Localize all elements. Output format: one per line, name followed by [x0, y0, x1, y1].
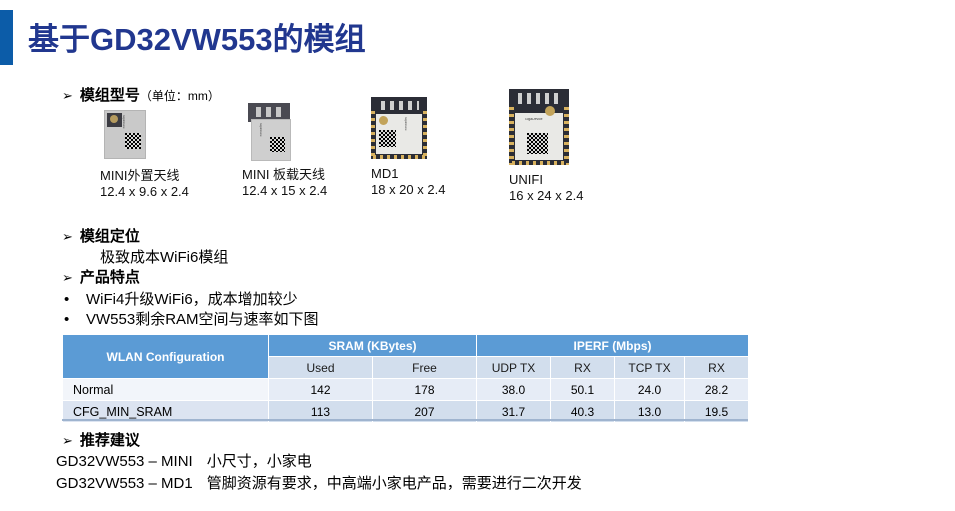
- models-heading-note: （单位：mm）: [140, 89, 220, 103]
- ground-pad-icon: [545, 106, 555, 116]
- table-header-group-iperf: IPERF (Mbps): [477, 335, 749, 357]
- module-dimensions: 16 x 24 x 2.4: [509, 188, 583, 204]
- feature-item-0-text: WiFi4升级WiFi6，成本增加较少: [86, 291, 298, 308]
- table-subheader-tcp-rx: RX: [685, 357, 749, 379]
- module-card-unifi: GigaDevice UNIFI 16 x 24 x 2.4: [509, 89, 583, 204]
- recommendation-heading-text: 推荐建议: [80, 432, 140, 449]
- qr-code-icon: [379, 130, 396, 147]
- recommendation-model-1: GD32VW553 – MD1: [56, 475, 193, 492]
- module-caption-md1: MD1 18 x 20 x 2.4: [371, 166, 445, 198]
- table-subheader-udp-rx: RX: [551, 357, 615, 379]
- castellated-pads-left: [509, 107, 514, 165]
- table-header-row-groups: WLAN Configuration SRAM (KBytes) IPERF (…: [63, 335, 749, 357]
- models-heading-text: 模组型号: [80, 87, 140, 104]
- module-name: MINI 板载天线: [242, 167, 327, 183]
- cell-config: Normal: [63, 379, 269, 401]
- module-image-mini-ext: GigaDevice: [104, 110, 146, 159]
- module-name: UNIFI: [509, 172, 583, 188]
- qr-code-icon: [527, 133, 548, 154]
- module-caption-unifi: UNIFI 16 x 24 x 2.4: [509, 172, 583, 204]
- features-heading-text: 产品特点: [80, 269, 140, 286]
- recommendation-row-0: GD32VW553 – MINI小尺寸，小家电: [56, 450, 312, 471]
- title-accent-bar: [0, 10, 13, 65]
- cell-udp-rx: 50.1: [551, 379, 615, 401]
- ground-pad-icon-front: [379, 116, 388, 125]
- cell-udp-tx: 38.0: [477, 379, 551, 401]
- section-heading-features: ➢产品特点: [62, 266, 140, 287]
- positioning-body-text: 极致成本WiFi6模组: [100, 246, 228, 267]
- table-subheader-used: Used: [269, 357, 373, 379]
- qr-code-icon: [125, 133, 141, 149]
- section-heading-recommendation: ➢推荐建议: [62, 429, 140, 450]
- section-heading-positioning: ➢模组定位: [62, 225, 140, 246]
- pcb-antenna-trace-icon: [518, 93, 560, 104]
- module-image-md1: GigaDevice: [371, 97, 427, 159]
- recommendation-note-1: 管脚资源有要求，中高端小家电产品，需要进行二次开发: [207, 475, 582, 492]
- feature-item-0: •WiFi4升级WiFi6，成本增加较少: [64, 288, 298, 309]
- castellated-pads-right: [423, 111, 427, 159]
- castellated-pads-bottom: [512, 161, 566, 165]
- section-heading-models: ➢模组型号（单位：mm）: [62, 84, 220, 105]
- module-name: MD1: [371, 166, 445, 182]
- module-brand-text: GigaDevice: [525, 118, 559, 121]
- recommendation-row-1: GD32VW553 – MD1管脚资源有要求，中高端小家电产品，需要进行二次开发: [56, 472, 582, 493]
- qr-code-icon: [270, 137, 285, 152]
- castellated-pads-bottom: [373, 155, 425, 159]
- module-brand-text: GigaDevice: [404, 117, 407, 151]
- pcb-antenna-trace-icon: [381, 101, 419, 110]
- performance-table: WLAN Configuration SRAM (KBytes) IPERF (…: [62, 334, 749, 423]
- page-title: 基于GD32VW553的模组: [28, 14, 366, 59]
- module-card-md1: GigaDevice MD1 18 x 20 x 2.4: [371, 97, 445, 198]
- arrow-bullet-icon: ➢: [62, 88, 73, 104]
- castellated-pads-left: [371, 111, 375, 159]
- module-caption-mini-pcb: MINI 板载天线 12.4 x 15 x 2.4: [242, 167, 327, 199]
- cell-tcp-tx: 24.0: [615, 379, 685, 401]
- arrow-bullet-icon: ➢: [62, 229, 73, 245]
- table-subheader-tcp-tx: TCP TX: [615, 357, 685, 379]
- table-header-group-sram: SRAM (KBytes): [269, 335, 477, 357]
- antenna-connector-icon: [110, 115, 118, 123]
- arrow-bullet-icon: ➢: [62, 433, 73, 449]
- table-row: Normal 142 178 38.0 50.1 24.0 28.2: [63, 379, 749, 401]
- module-image-mini-pcb: GigaDevice: [248, 103, 290, 159]
- module-card-mini-pcb: GigaDevice MINI 板载天线 12.4 x 15 x 2.4: [248, 103, 327, 199]
- castellated-pads-right: [564, 107, 569, 165]
- cell-tcp-rx: 28.2: [685, 379, 749, 401]
- module-brand-text: GigaDevice: [122, 115, 125, 133]
- table-subheader-udp-tx: UDP TX: [477, 357, 551, 379]
- dot-bullet-icon: •: [64, 311, 86, 328]
- module-dimensions: 18 x 20 x 2.4: [371, 182, 445, 198]
- arrow-bullet-icon: ➢: [62, 270, 73, 286]
- module-dimensions: 12.4 x 15 x 2.4: [242, 183, 327, 199]
- feature-item-1: •VW553剩余RAM空间与速率如下图: [64, 308, 319, 329]
- module-card-mini-ext: GigaDevice MINI外置天线 12.4 x 9.6 x 2.4: [104, 110, 189, 200]
- module-brand-text: GigaDevice: [259, 123, 262, 141]
- recommendation-model-0: GD32VW553 – MINI: [56, 453, 193, 470]
- module-image-unifi: GigaDevice: [509, 89, 569, 165]
- module-name: MINI外置天线: [100, 168, 189, 184]
- recommendation-note-0: 小尺寸，小家电: [207, 453, 312, 470]
- cell-used: 142: [269, 379, 373, 401]
- module-dimensions: 12.4 x 9.6 x 2.4: [100, 184, 189, 200]
- table-bottom-rule: [62, 419, 748, 421]
- cell-free: 178: [373, 379, 477, 401]
- table-subheader-free: Free: [373, 357, 477, 379]
- table-header-config: WLAN Configuration: [63, 335, 269, 379]
- dot-bullet-icon: •: [64, 291, 86, 308]
- module-caption-mini-ext: MINI外置天线 12.4 x 9.6 x 2.4: [100, 168, 189, 200]
- positioning-heading-text: 模组定位: [80, 228, 140, 245]
- feature-item-1-text: VW553剩余RAM空间与速率如下图: [86, 311, 319, 328]
